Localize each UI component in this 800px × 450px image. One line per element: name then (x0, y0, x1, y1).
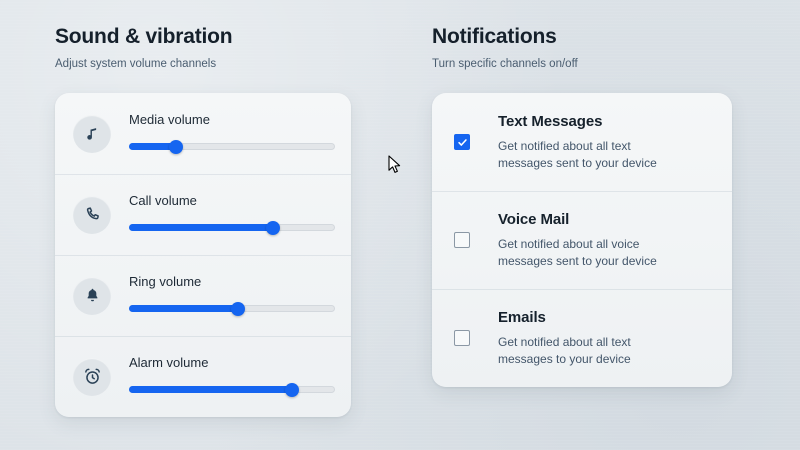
volume-slider-media[interactable] (129, 140, 335, 154)
notification-body-text-messages: Text Messages Get notified about all tex… (498, 112, 714, 172)
volume-body-alarm: Alarm volume (129, 355, 335, 399)
slider-thumb[interactable] (231, 302, 245, 316)
notification-title-text-messages: Text Messages (498, 112, 714, 131)
notification-body-emails: Emails Get notified about all text messa… (498, 308, 714, 368)
settings-screen: Sound & vibration Adjust system volume c… (0, 0, 800, 450)
volume-body-call: Call volume (129, 193, 335, 237)
notification-title-emails: Emails (498, 308, 714, 327)
page-title-sound: Sound & vibration (55, 24, 375, 50)
slider-fill (129, 305, 238, 312)
music-note-icon (73, 115, 111, 153)
volume-body-media: Media volume (129, 112, 335, 156)
slider-fill (129, 224, 273, 231)
notifications-section: Notifications Turn specific channels on/… (432, 24, 752, 387)
slider-thumb[interactable] (169, 140, 183, 154)
volume-label-call: Call volume (129, 193, 335, 209)
volume-slider-ring[interactable] (129, 302, 335, 316)
slider-thumb[interactable] (285, 383, 299, 397)
volume-slider-alarm[interactable] (129, 383, 335, 397)
notification-desc-text-messages: Get notified about all text messages sen… (498, 138, 688, 172)
volume-label-media: Media volume (129, 112, 335, 128)
slider-fill (129, 386, 292, 393)
checkbox-emails[interactable] (454, 330, 470, 346)
volume-card: Media volume Call volume (55, 93, 351, 417)
phone-icon (73, 196, 111, 234)
volume-label-alarm: Alarm volume (129, 355, 335, 371)
checkbox-text-messages[interactable] (454, 134, 470, 150)
notification-row-text-messages[interactable]: Text Messages Get notified about all tex… (432, 93, 732, 191)
alarm-clock-icon (73, 358, 111, 396)
volume-row-media[interactable]: Media volume (55, 93, 351, 174)
volume-row-call[interactable]: Call volume (55, 174, 351, 255)
notification-row-voice-mail[interactable]: Voice Mail Get notified about all voice … (432, 191, 732, 289)
volume-body-ring: Ring volume (129, 274, 335, 318)
arrow-cursor (388, 155, 402, 175)
volume-label-ring: Ring volume (129, 274, 335, 290)
checkbox-voice-mail[interactable] (454, 232, 470, 248)
page-subtitle-sound: Adjust system volume channels (55, 57, 375, 72)
notification-desc-voice-mail: Get notified about all voice messages se… (498, 236, 688, 270)
sound-vibration-section: Sound & vibration Adjust system volume c… (55, 24, 375, 417)
bell-icon (73, 277, 111, 315)
notification-row-emails[interactable]: Emails Get notified about all text messa… (432, 289, 732, 387)
volume-row-ring[interactable]: Ring volume (55, 255, 351, 336)
notification-desc-emails: Get notified about all text messages to … (498, 334, 688, 368)
notifications-card: Text Messages Get notified about all tex… (432, 93, 732, 387)
volume-slider-call[interactable] (129, 221, 335, 235)
slider-thumb[interactable] (266, 221, 280, 235)
page-subtitle-notifications: Turn specific channels on/off (432, 57, 752, 72)
notification-body-voice-mail: Voice Mail Get notified about all voice … (498, 210, 714, 270)
notification-title-voice-mail: Voice Mail (498, 210, 714, 229)
page-title-notifications: Notifications (432, 24, 752, 50)
volume-row-alarm[interactable]: Alarm volume (55, 336, 351, 417)
